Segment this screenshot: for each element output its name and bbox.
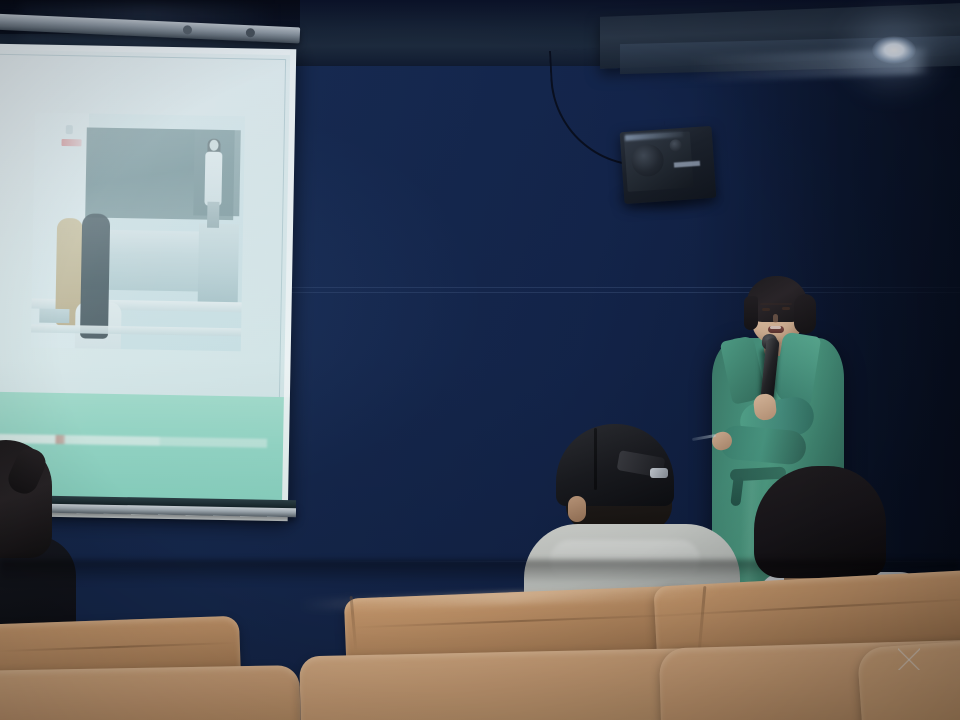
wall-mounted-loudspeaker: [620, 126, 717, 204]
roller-bracket: [246, 28, 255, 37]
classroom-video-still: [31, 112, 245, 351]
roller-bracket: [183, 25, 192, 34]
presenter-teeth: [770, 326, 781, 329]
audience-cap-ear: [568, 496, 586, 522]
baseball-cap-buckle: [650, 468, 668, 478]
presenter-brow: [760, 303, 792, 305]
sofa-seat-left: [0, 665, 301, 720]
projection-haze: [31, 112, 245, 351]
sofa-seat-center: [299, 648, 720, 720]
presenter-eye-right: [782, 307, 790, 310]
ceiling-spotlight: [872, 36, 916, 64]
photo-scene: 汉 字 竖 排 课: [0, 0, 960, 720]
presenter-hair-bun: [794, 294, 816, 334]
tan-leather-sofa: [0, 560, 960, 720]
presenter-hair-side: [744, 296, 758, 330]
presenter-nose: [773, 314, 778, 323]
presenter-eye-left: [762, 308, 770, 311]
sofa-tag: [898, 648, 920, 670]
baseball-cap-seam: [594, 428, 597, 490]
